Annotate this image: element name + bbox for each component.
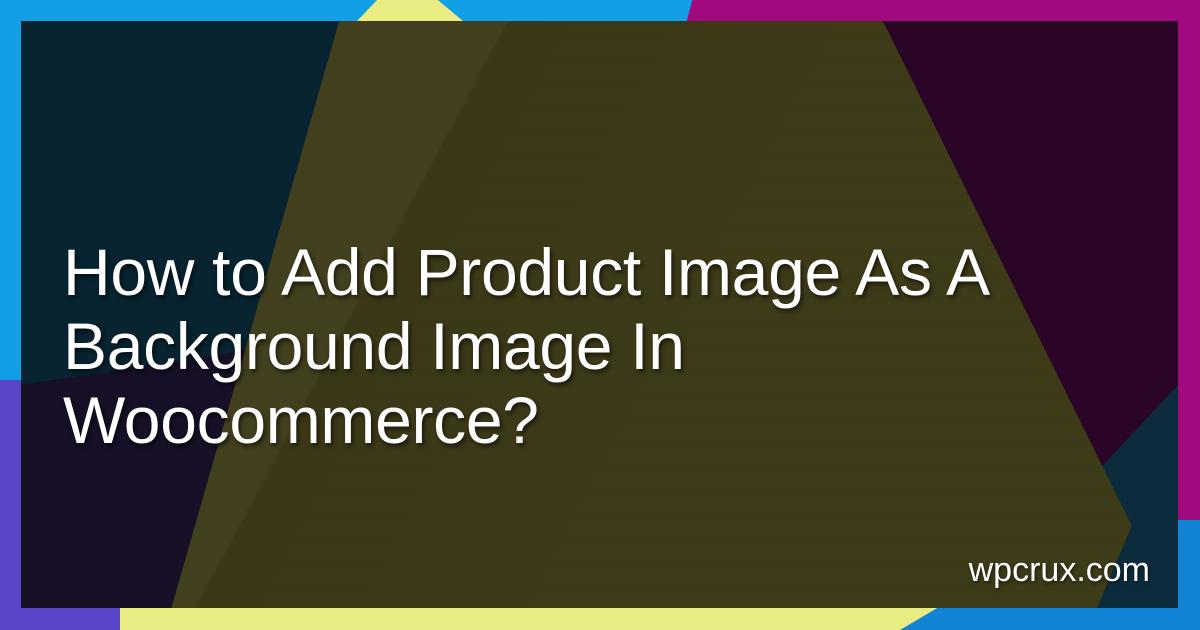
social-share-card: How to Add Product Image As A Background…	[0, 0, 1200, 630]
site-watermark: wpcrux.com	[969, 551, 1150, 590]
page-title: How to Add Product Image As A Background…	[63, 236, 1153, 458]
